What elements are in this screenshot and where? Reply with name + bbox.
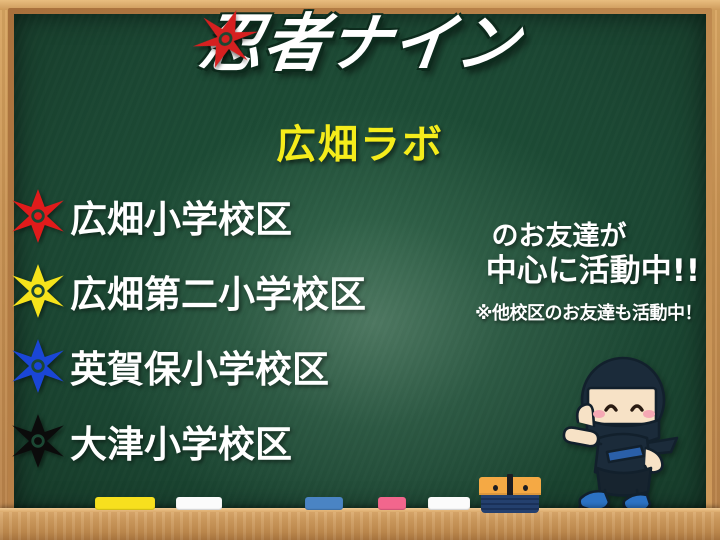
eraser-handle [507,474,513,496]
district-label: 広畑第二小学校区 [70,264,366,318]
title-block: 忍者ナイン [0,12,720,75]
chalk-blue[interactable] [305,497,343,510]
chalk-pink[interactable] [378,497,406,510]
page-title: 忍者ナイン [196,12,524,75]
ninja-mascot [545,352,695,514]
eraser-dot-right [523,485,528,491]
district-label: 大津小学校区 [70,414,292,468]
callout-line-2: 中心に活動中!! [422,254,702,290]
chalk-white-2[interactable] [428,497,470,510]
shuriken-icon [10,338,66,394]
chalk-white-1[interactable] [176,497,222,510]
district-list: 広畑小学校区 広畑第二小学校区 英賀保小学校区 大津 [10,178,450,478]
district-label: 英賀保小学校区 [70,339,329,393]
chalk-yellow[interactable] [95,497,155,510]
list-item[interactable]: 広畑第二小学校区 [10,253,450,328]
callout-line-1: のお友達が [422,222,702,252]
district-label: 広畑小学校区 [70,189,292,243]
shuriken-icon [10,263,66,319]
chalk-ledge [0,508,720,540]
callout-note: ※他校区のお友達も活動中！ [422,299,702,325]
page-subtitle: 広畑ラボ [0,112,720,170]
shuriken-icon [10,188,66,244]
shuriken-icon [10,413,66,469]
blackboard-eraser[interactable] [479,477,541,513]
list-item[interactable]: 広畑小学校区 [10,178,450,253]
poster-screen: 忍者ナイン 広畑ラボ 広畑小学校区 広畑第二小学校区 [0,0,720,540]
eraser-body [481,495,539,513]
list-item[interactable]: 英賀保小学校区 [10,328,450,403]
eraser-dot-left [493,485,498,491]
list-item[interactable]: 大津小学校区 [10,403,450,478]
callout-block: のお友達が 中心に活動中!! ※他校区のお友達も活動中！ [422,222,702,325]
